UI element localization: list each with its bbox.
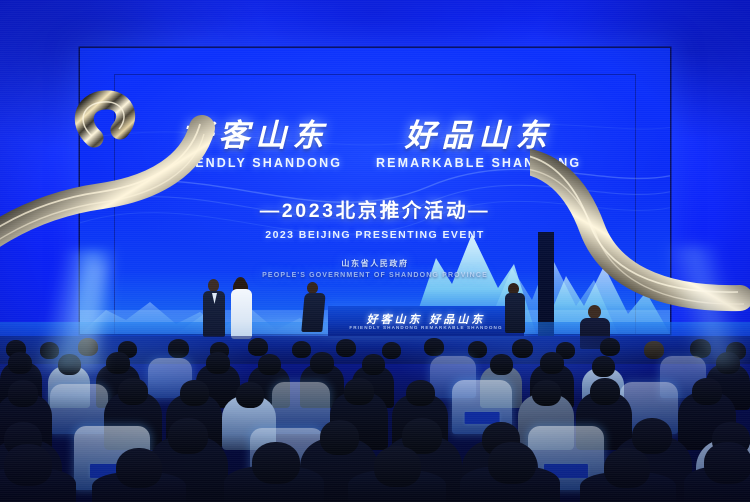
audience-head	[540, 352, 564, 374]
audience-head	[468, 341, 487, 358]
slogan-en-remarkable: REMARKABLE SHANDONG	[376, 156, 581, 170]
stage-host-male	[203, 279, 225, 337]
audience-head	[40, 342, 59, 359]
audience-head	[704, 442, 750, 484]
audience-head	[600, 338, 620, 356]
audience-head	[532, 380, 561, 406]
audience-head	[8, 352, 32, 374]
organizer-cn: 山东省人民政府	[80, 258, 670, 269]
audience-head	[58, 354, 81, 375]
audience-head	[632, 418, 672, 454]
audience-head	[8, 380, 38, 407]
slogan-en-friendly: FRIENDLY SHANDONG	[169, 156, 342, 170]
stage-host-female	[230, 277, 253, 339]
audience-head	[116, 448, 162, 488]
audience-head	[512, 339, 533, 358]
audience-head	[374, 446, 421, 487]
audience-head	[252, 442, 300, 484]
audience-head	[344, 378, 374, 405]
audience-head	[490, 354, 513, 375]
audience-head	[362, 354, 385, 375]
audience-head	[644, 341, 664, 359]
audience-head	[590, 378, 620, 405]
lectern-podium: 好客山东 好品山东 FRIENDLY SHANDONG REMARKABLE S…	[328, 306, 524, 336]
audience-head	[78, 338, 98, 356]
audience-head	[258, 354, 281, 375]
audience-head	[292, 341, 311, 358]
event-title-en: 2023 BEIJING PRESENTING EVENT	[80, 229, 670, 241]
audience-head	[236, 382, 264, 408]
organizer-en: PEOPLE'S GOVERNMENT OF SHANDONG PROVINCE	[80, 272, 670, 279]
event-photo-scene: 好客山东 FRIENDLY SHANDONG 好品山东 REMARKABLE S…	[0, 0, 750, 502]
audience-head	[406, 380, 435, 406]
foreground-guest-head	[588, 305, 601, 319]
slogan-friendly-shandong: 好客山东 FRIENDLY SHANDONG	[169, 120, 342, 170]
audience-chair	[272, 382, 330, 434]
event-title-cn: —2023北京推介活动—	[80, 194, 670, 223]
audience-head	[488, 442, 536, 484]
audience-head	[692, 378, 722, 405]
slogan-row: 好客山东 FRIENDLY SHANDONG 好品山东 REMARKABLE S…	[80, 120, 670, 170]
slogan-cn-remarkable: 好品山东	[376, 120, 581, 153]
lectern-text-en: FRIENDLY SHANDONG REMARKABLE SHANDONG	[328, 325, 524, 330]
audience-head	[118, 378, 148, 405]
audience-head	[106, 352, 130, 374]
audience-head	[168, 339, 189, 358]
audience-head	[604, 448, 650, 488]
stage-speaker-at-lectern	[303, 282, 324, 332]
slogan-cn-friendly: 好客山东	[169, 120, 342, 153]
audience-head	[382, 342, 401, 359]
audience-head	[4, 444, 52, 486]
speaker-body	[301, 293, 325, 332]
audience-head	[168, 418, 208, 454]
audience-head	[320, 420, 359, 455]
led-screen: 好客山东 FRIENDLY SHANDONG 好品山东 REMARKABLE S…	[80, 48, 670, 334]
audience-head	[592, 356, 615, 377]
led-text-block: 好客山东 FRIENDLY SHANDONG 好品山东 REMARKABLE S…	[80, 120, 670, 279]
stage-right-guest	[505, 283, 525, 333]
audience-head	[336, 339, 356, 357]
audience-head	[310, 352, 334, 374]
audience-head	[248, 338, 268, 356]
slogan-remarkable-shandong: 好品山东 REMARKABLE SHANDONG	[376, 120, 581, 170]
stage-right-guest-body	[505, 293, 525, 333]
audience-area	[0, 336, 750, 502]
host-female-body	[231, 289, 252, 339]
audience-head	[206, 352, 230, 374]
audience-head	[424, 338, 444, 356]
audience-head	[716, 352, 740, 374]
audience-head	[180, 380, 209, 406]
